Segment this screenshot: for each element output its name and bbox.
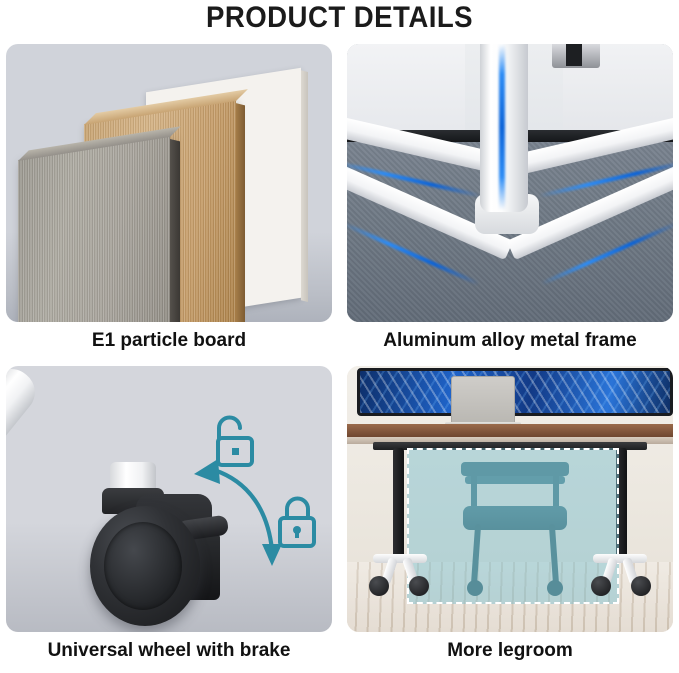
desk-caster-left-front bbox=[369, 576, 389, 596]
desk-leg-tube bbox=[6, 366, 44, 513]
wheel-image bbox=[6, 366, 332, 632]
page-title: PRODUCT DETAILS bbox=[27, 0, 652, 36]
detail-card-legroom: More legroom bbox=[347, 366, 673, 669]
legroom-image bbox=[347, 366, 673, 632]
detail-card-board: E1 particle board bbox=[6, 44, 332, 360]
desk-caster-left-rear bbox=[409, 576, 429, 596]
unlock-icon bbox=[218, 418, 252, 466]
caption-frame: Aluminum alloy metal frame bbox=[347, 330, 673, 352]
monitor-mount bbox=[552, 44, 600, 68]
gray-board-face bbox=[18, 136, 170, 322]
board-image bbox=[6, 44, 332, 322]
desk-top-surface bbox=[347, 424, 673, 437]
caption-board: E1 particle board bbox=[6, 330, 332, 352]
laptop-screen bbox=[451, 376, 515, 425]
base-bar-right bbox=[593, 554, 647, 563]
white-board-edge bbox=[301, 70, 308, 302]
gray-grain-texture bbox=[18, 136, 170, 322]
oak-board-edge bbox=[236, 103, 245, 322]
leg-blue-highlight bbox=[499, 44, 505, 210]
desk-caster-right-front bbox=[591, 576, 611, 596]
caption-wheel: Universal wheel with brake bbox=[6, 640, 332, 662]
desk-leg-left bbox=[393, 448, 404, 560]
gray-board bbox=[18, 136, 170, 322]
detail-card-frame: Aluminum alloy metal frame bbox=[347, 44, 673, 360]
caption-legroom: More legroom bbox=[347, 640, 673, 662]
base-bar-left bbox=[373, 554, 427, 563]
frame-image bbox=[347, 44, 673, 322]
caster-wheel bbox=[90, 506, 200, 626]
arrowhead-unlock bbox=[194, 459, 220, 484]
desk-caster-right-rear bbox=[631, 576, 651, 596]
detail-card-wheel: Universal wheel with brake bbox=[6, 366, 332, 669]
desk-base-right bbox=[593, 554, 647, 590]
product-details-infographic: PRODUCT DETAILS E1 particle board bbox=[0, 0, 679, 673]
monitor-screen bbox=[357, 368, 673, 416]
legroom-highlight-area bbox=[407, 448, 619, 604]
gray-board-edge bbox=[170, 139, 180, 322]
desk-base-left bbox=[373, 554, 427, 590]
